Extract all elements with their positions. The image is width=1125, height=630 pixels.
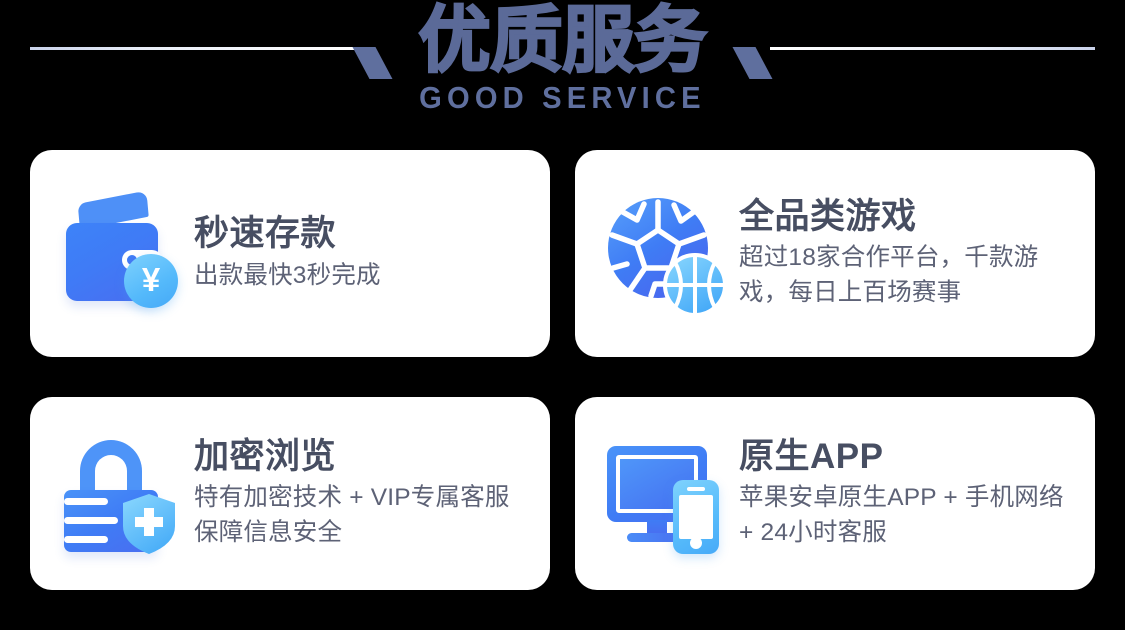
service-card-native-app[interactable]: 原生APP 苹果安卓原生APP + 手机网络 + 24小时客服 xyxy=(575,397,1095,590)
card-description: 出款最快3秒完成 xyxy=(194,259,532,294)
lock-shackle-shape xyxy=(80,440,142,498)
yen-symbol: ¥ xyxy=(142,263,160,296)
service-card-games[interactable]: 全品类游戏 超过18家合作平台，千款游戏，每日上百场赛事 xyxy=(575,150,1095,357)
phone-speaker xyxy=(687,487,705,491)
card-title: 加密浏览 xyxy=(194,436,532,477)
lock-slot-3 xyxy=(64,536,108,543)
card-description: 超过18家合作平台，千款游戏，每日上百场赛事 xyxy=(739,241,1069,311)
card-text-block: 加密浏览 特有加密技术 + VIP专属客服保障信息安全 xyxy=(194,436,532,551)
card-description: 特有加密技术 + VIP专属客服保障信息安全 xyxy=(194,481,524,551)
lock-slot-1 xyxy=(64,498,108,505)
soccer-basketball-icon xyxy=(603,192,727,316)
card-icon-container: ¥ xyxy=(58,192,182,316)
phone-home-button xyxy=(690,537,702,549)
service-card-encryption[interactable]: 加密浏览 特有加密技术 + VIP专属客服保障信息安全 xyxy=(30,397,550,590)
page-title: 优质服务 xyxy=(418,0,706,78)
wallet-yen-icon: ¥ xyxy=(58,192,182,316)
page-header: 优质服务 GOOD SERVICE xyxy=(0,0,1125,150)
card-text-block: 原生APP 苹果安卓原生APP + 手机网络 + 24小时客服 xyxy=(739,436,1077,551)
card-title: 全品类游戏 xyxy=(739,196,1077,237)
card-text-block: 秒速存款 出款最快3秒完成 xyxy=(194,213,532,293)
service-card-grid: ¥ 秒速存款 出款最快3秒完成 xyxy=(30,150,1095,590)
soccer-ball-svg xyxy=(603,192,727,316)
phone-screen xyxy=(679,495,713,539)
lock-slot-2 xyxy=(64,517,118,524)
header-title-block: 优质服务 GOOD SERVICE xyxy=(0,0,1125,116)
yen-coin-icon: ¥ xyxy=(124,254,178,308)
shield-cross-icon xyxy=(120,492,178,556)
lock-shield-icon xyxy=(58,432,182,556)
service-card-deposit[interactable]: ¥ 秒速存款 出款最快3秒完成 xyxy=(30,150,550,357)
shield-svg xyxy=(120,492,178,556)
phone-shape xyxy=(673,480,719,554)
card-text-block: 全品类游戏 超过18家合作平台，千款游戏，每日上百场赛事 xyxy=(739,196,1077,311)
card-title: 原生APP xyxy=(739,436,1077,477)
card-icon-container xyxy=(58,432,182,556)
card-description: 苹果安卓原生APP + 手机网络 + 24小时客服 xyxy=(739,481,1069,551)
card-icon-container xyxy=(603,432,727,556)
page-subtitle: GOOD SERVICE xyxy=(419,80,706,116)
monitor-phone-icon xyxy=(603,432,727,556)
card-icon-container xyxy=(603,192,727,316)
card-title: 秒速存款 xyxy=(194,213,532,254)
